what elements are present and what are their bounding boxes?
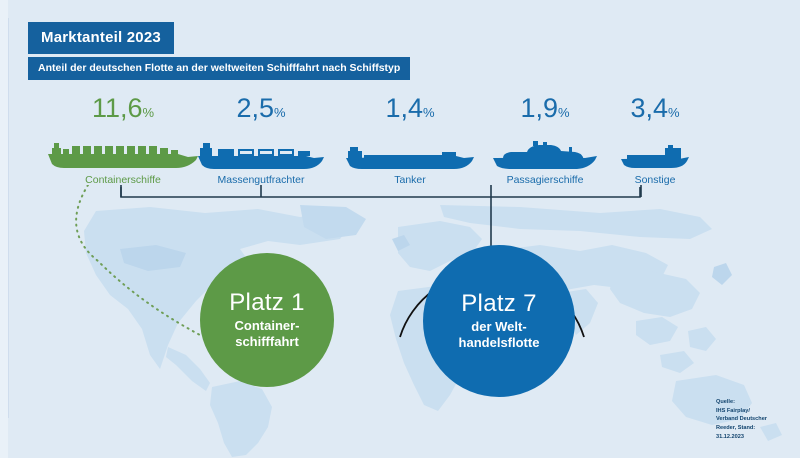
ship-type-tanker: 1,4% Tanker xyxy=(340,95,480,186)
ship-type-containerschiffe: 11,6% xyxy=(42,95,204,186)
bracket-horizontal xyxy=(121,187,640,197)
percent-value-containerschiffe: 11,6% xyxy=(42,95,204,122)
source-line-5: 31.12.2023 xyxy=(716,433,767,442)
bubble-blue-desc: der Welt- handelsflotte xyxy=(459,319,540,352)
bubble-green-rank: Platz 1 xyxy=(229,290,304,315)
bracket-ticks xyxy=(121,185,641,197)
cruise-ship-icon xyxy=(480,128,610,170)
tanker-icon xyxy=(340,128,480,170)
ship-type-row: 11,6% xyxy=(0,95,800,190)
ship-type-sonstige: 3,4% Sonstige xyxy=(600,95,710,186)
bubble-green-desc-line1: Container- xyxy=(235,318,300,334)
bubble-green-desc: Container- schifffahrt xyxy=(235,318,300,351)
percent-value-massengutfrachter: 2,5% xyxy=(188,95,334,122)
page-title: Marktanteil 2023 xyxy=(28,22,174,54)
bubble-platz-1[interactable]: Platz 1 Container- schifffahrt xyxy=(200,253,334,387)
source-line-4: Reeder, Stand: xyxy=(716,424,767,433)
bubble-blue-desc-line1: der Welt- xyxy=(459,319,540,335)
percent-value-tanker: 1,4% xyxy=(340,95,480,122)
source-note: Quelle: IHS Fairplay/ Verband Deutscher … xyxy=(716,398,767,441)
bubble-blue-rank: Platz 7 xyxy=(461,291,536,316)
infographic-canvas: Marktanteil 2023 Anteil der deutschen Fl… xyxy=(0,0,800,458)
source-line-1: Quelle: xyxy=(716,398,767,407)
container-ship-icon xyxy=(42,128,204,170)
source-line-2: IHS Fairplay/ xyxy=(716,407,767,416)
percent-value-passagierschiffe: 1,9% xyxy=(480,95,610,122)
percent-value-sonstige: 3,4% xyxy=(600,95,710,122)
ship-type-massengutfrachter: 2,5% Massengutfrachter xyxy=(188,95,334,186)
page-subtitle: Anteil der deutschen Flotte an der weltw… xyxy=(28,57,410,80)
bubble-blue-desc-line2: handelsflotte xyxy=(459,335,540,351)
bulk-carrier-icon xyxy=(188,128,334,170)
bubble-platz-7[interactable]: Platz 7 der Welt- handelsflotte xyxy=(423,245,575,397)
green-dotted-route xyxy=(76,185,200,335)
bubble-green-desc-line2: schifffahrt xyxy=(235,334,300,350)
cargo-ship-icon xyxy=(600,128,710,170)
ship-type-passagierschiffe: 1,9% Passagierschiffe xyxy=(480,95,610,186)
source-line-3: Verband Deutscher xyxy=(716,415,767,424)
connector-lines xyxy=(0,185,800,365)
